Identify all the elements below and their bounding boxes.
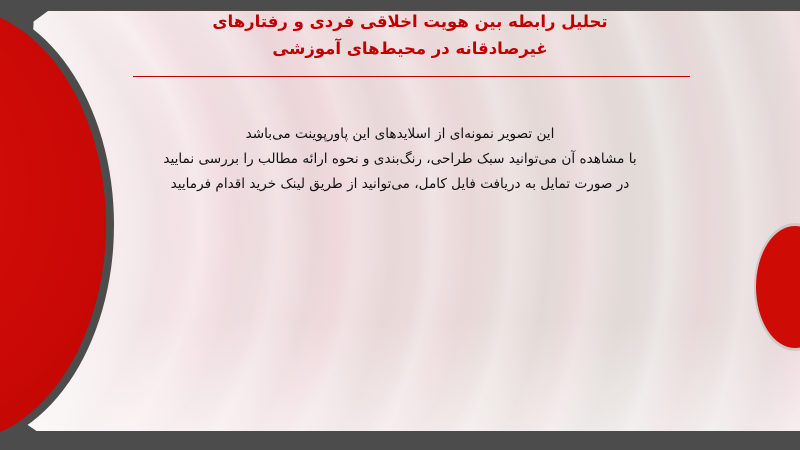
slide-title: تحلیل رابطه بین هویت اخلاقی فردی و رفتار… <box>120 8 700 62</box>
slide-title-line-2: غیرصادقانه در محیط‌های آموزشی <box>120 35 700 62</box>
slide-body-line-1: این تصویر نمونه‌ای از اسلایدهای این پاور… <box>110 122 690 147</box>
slide-text-layer: تحلیل رابطه بین هویت اخلاقی فردی و رفتار… <box>0 0 800 450</box>
slide-body-line-3: در صورت تمایل به دریافت فایل کامل، می‌تو… <box>110 172 690 197</box>
slide-body-text: این تصویر نمونه‌ای از اسلایدهای این پاور… <box>110 122 690 197</box>
title-underline-rule <box>133 76 690 77</box>
slide-body-line-2: با مشاهده آن می‌توانید سبک طراحی، رنگ‌بن… <box>110 147 690 172</box>
presentation-slide: تحلیل رابطه بین هویت اخلاقی فردی و رفتار… <box>0 0 800 450</box>
slide-title-line-1: تحلیل رابطه بین هویت اخلاقی فردی و رفتار… <box>120 8 700 35</box>
